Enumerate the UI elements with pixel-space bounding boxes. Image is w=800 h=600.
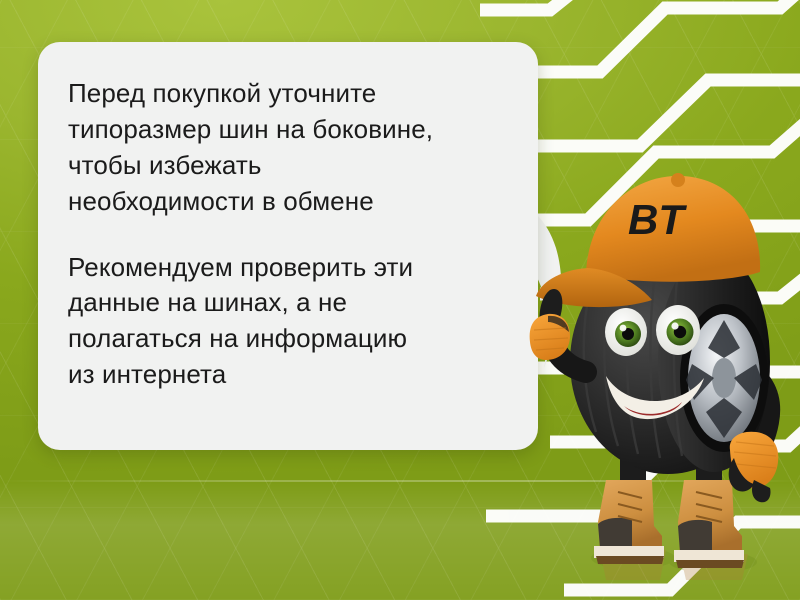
mascot-boot-left bbox=[594, 480, 664, 564]
tire-character-mascot: BT bbox=[528, 150, 800, 580]
poster-canvas: Перед покупкой уточните типоразмер шин н… bbox=[0, 0, 800, 600]
mascot-right-glove bbox=[729, 432, 779, 503]
cap-logo-text: BT bbox=[628, 196, 687, 243]
tip-paragraph-2: Рекомендуем проверить эти данные на шина… bbox=[68, 250, 504, 394]
mascot-boot-right bbox=[674, 480, 744, 568]
tip-paragraph-1: Перед покупкой уточните типоразмер шин н… bbox=[68, 76, 504, 220]
speech-bubble-card: Перед покупкой уточните типоразмер шин н… bbox=[38, 42, 538, 450]
